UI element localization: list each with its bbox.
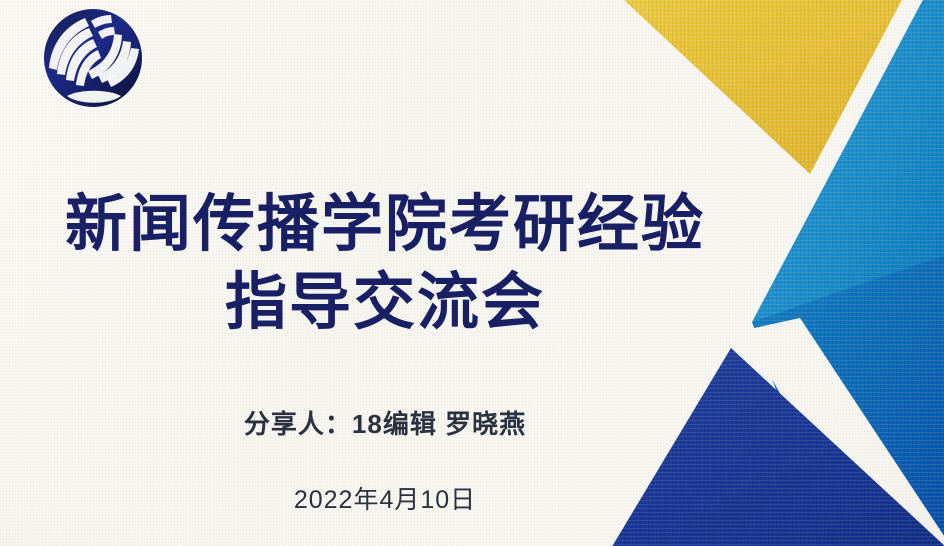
university-logo xyxy=(35,4,151,120)
presenter-label: 分享人：18编辑 罗晓燕 xyxy=(0,404,770,441)
title-line-1: 新闻传播学院考研经验 xyxy=(0,186,770,264)
event-date-label: 2022年4月10日 xyxy=(0,480,770,516)
title-line-2: 指导交流会 xyxy=(0,264,770,342)
poster-canvas: 新闻传播学院考研经验 指导交流会 分享人：18编辑 罗晓燕 2022年4月10日 xyxy=(0,0,944,546)
page-title: 新闻传播学院考研经验 指导交流会 xyxy=(0,186,770,342)
